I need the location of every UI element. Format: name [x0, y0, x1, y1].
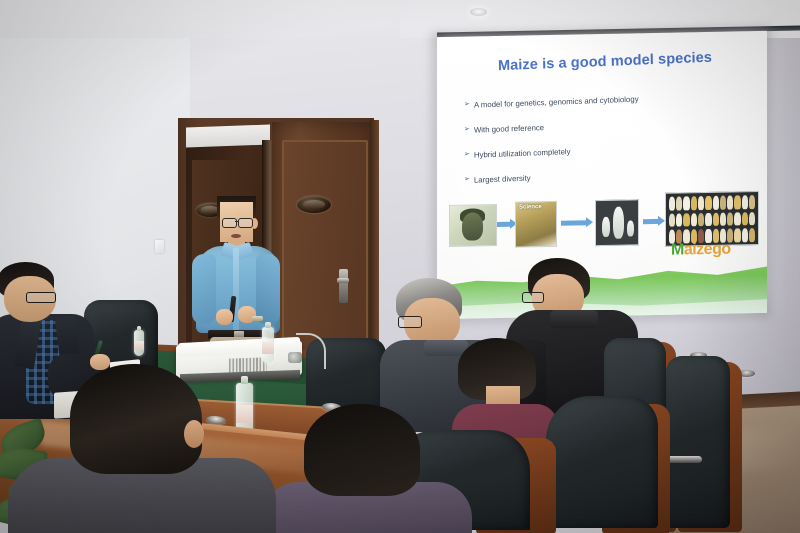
door-panel-inset: [282, 140, 368, 364]
bullet-arrow-icon: ➢: [464, 151, 470, 159]
hair: [304, 404, 420, 496]
logo-rest: aizego: [684, 241, 731, 259]
light-switch-plate[interactable]: [155, 240, 164, 253]
figure-arrow-1-icon: [497, 222, 511, 227]
glasses-lens-right-icon: [238, 218, 253, 228]
bullet-text: Hybrid utilization completely: [474, 147, 571, 160]
door-transom: [186, 125, 270, 148]
door-handle-icon[interactable]: [337, 278, 349, 283]
bullet-arrow-icon: ➢: [464, 101, 470, 109]
wristwatch-icon: [252, 316, 263, 321]
water-bottle[interactable]: [134, 330, 144, 356]
ear: [184, 420, 204, 448]
figure-arrow-3-icon: [643, 219, 659, 224]
foreground-attendee: [24, 364, 264, 533]
hair: [70, 364, 202, 474]
foreground-right-attendee: [268, 404, 458, 533]
bullet-text: With good reference: [474, 123, 544, 135]
arm-right: [256, 254, 280, 324]
chair[interactable]: [664, 356, 760, 533]
collar: [550, 310, 598, 328]
list-item: ➢ With good reference: [464, 116, 734, 135]
figure-panel-maize-ears: [595, 199, 639, 246]
recessed-ceiling-light-icon: [470, 8, 487, 16]
logo-text: Maizego: [671, 241, 731, 259]
glasses-bridge-icon: [235, 221, 238, 222]
presentation-room-photo: Maize is a good model species ➢ A model …: [0, 0, 800, 533]
water-bottle[interactable]: [262, 327, 274, 363]
projector-lens-icon: [288, 352, 302, 363]
bullet-arrow-icon: ➢: [464, 176, 470, 184]
shirt-placket: [233, 248, 239, 333]
science-cover-label: Science: [519, 204, 542, 210]
bullet-arrow-icon: ➢: [464, 126, 470, 134]
glasses-lens-left-icon: [222, 218, 237, 228]
slide-bullet-list: ➢ A model for genetics, genomics and cyt…: [464, 93, 734, 182]
oval-nameplate-right-icon: [297, 196, 331, 213]
list-item: ➢ Hybrid utilization completely: [464, 141, 734, 160]
glasses-icon: [398, 316, 422, 328]
maizego-logo: Maizego: [671, 239, 755, 261]
logo-first-letter: M: [671, 241, 684, 258]
electronic-door-lock-icon[interactable]: [339, 269, 348, 303]
glasses-icon: [522, 292, 544, 303]
figure-panel-portrait: [449, 204, 497, 247]
hand-left: [216, 309, 233, 325]
chair[interactable]: [546, 396, 676, 533]
figure-panel-science-cover: Science: [515, 201, 557, 248]
arm-left: [192, 254, 216, 324]
glasses-icon: [26, 292, 56, 303]
figure-arrow-2-icon: [561, 220, 587, 225]
door-frame-edge: [370, 120, 379, 370]
